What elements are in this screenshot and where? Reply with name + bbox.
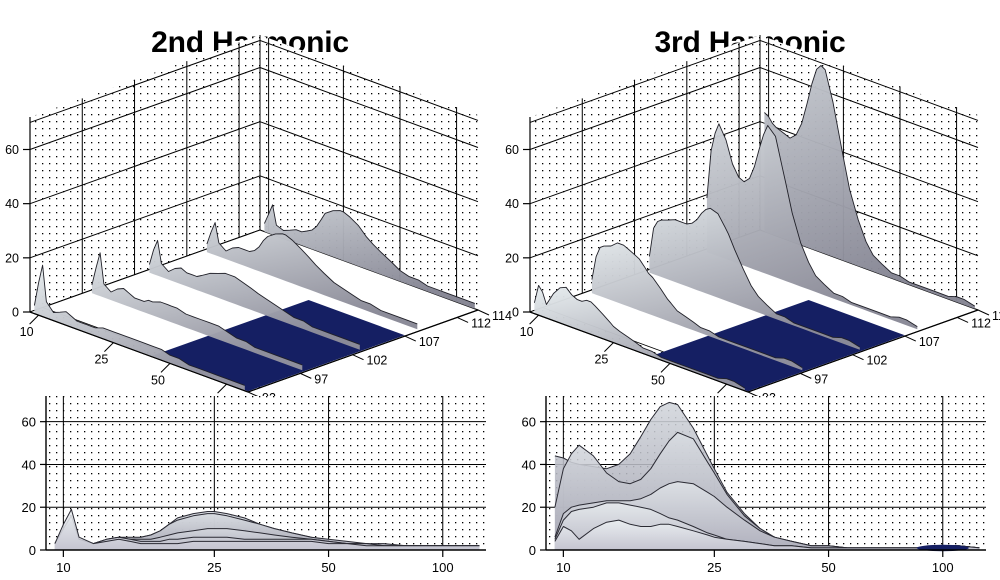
x-tick-label: 10 [56, 560, 70, 575]
z-tick-label: 40 [505, 197, 519, 211]
y-tick [457, 317, 468, 322]
y-tick-label: 40 [522, 457, 536, 472]
harmonics-figure: 2nd Harmonic 020406010255010092971021071… [0, 0, 1000, 580]
x-tick [604, 343, 613, 352]
y-tick-label: 20 [22, 500, 36, 515]
y-tick-label: 40 [22, 457, 36, 472]
y-tick-label: 107 [419, 335, 440, 349]
x-tick-label: 25 [94, 353, 108, 367]
x-tick-label: 25 [707, 560, 721, 575]
z-tick-label: 0 [512, 306, 519, 320]
y-tick [800, 373, 811, 378]
y-tick-label: 112 [471, 316, 491, 330]
x-tick [530, 315, 539, 324]
y-tick [957, 317, 968, 322]
x-tick-label: 10 [20, 325, 34, 339]
panel-second-harmonic: 2nd Harmonic 020406010255010092971021071… [0, 0, 500, 580]
x-tick-label: 25 [207, 560, 221, 575]
x-tick-label: 100 [432, 560, 454, 575]
z-tick-label: 60 [505, 143, 519, 157]
x-tick-label: 10 [520, 325, 534, 339]
y-tick-label: 0 [29, 543, 36, 558]
z-tick-label: 60 [5, 143, 19, 157]
x-tick-label: 50 [821, 560, 835, 575]
y-tick-label: 60 [522, 415, 536, 430]
y-tick-label: 60 [22, 415, 36, 430]
y-tick-label: 114 [992, 309, 1000, 323]
y-tick [300, 373, 311, 378]
y-tick [905, 336, 916, 341]
y-tick-label: 20 [522, 500, 536, 515]
x-tick [161, 363, 170, 372]
plot2d-second-harmonic: 0204060102550100 [0, 382, 500, 580]
plot2d-third-harmonic: 0204060102550100 [500, 382, 1000, 580]
y-tick [353, 355, 364, 360]
x-tick-label: 25 [594, 353, 608, 367]
x-tick-label: 50 [321, 560, 335, 575]
x-tick-label: 10 [556, 560, 570, 575]
panel-third-harmonic: 3rd Harmonic 020406010255010092971021071… [500, 0, 1000, 580]
y-tick-label: 102 [367, 354, 388, 368]
plot3d-second-harmonic: 02040601025501009297102107112114 [0, 100, 500, 380]
z-tick-label: 40 [5, 197, 19, 211]
x-tick-label: 100 [932, 560, 954, 575]
z-tick-label: 0 [12, 306, 19, 320]
y-tick-label: 112 [971, 316, 991, 330]
y-tick [978, 310, 989, 315]
y-tick [478, 310, 489, 315]
x-tick [104, 343, 113, 352]
y-tick [405, 336, 416, 341]
y-tick-label: 107 [919, 335, 940, 349]
plot3d-third-harmonic: 02040601025501009297102107112114 [500, 100, 1000, 380]
x-tick [661, 363, 670, 372]
x-tick [30, 315, 39, 324]
y-tick [853, 355, 864, 360]
z-tick-label: 20 [505, 251, 519, 265]
y-tick-label: 0 [529, 543, 536, 558]
y-tick-label: 102 [867, 354, 888, 368]
z-tick-label: 20 [5, 251, 19, 265]
